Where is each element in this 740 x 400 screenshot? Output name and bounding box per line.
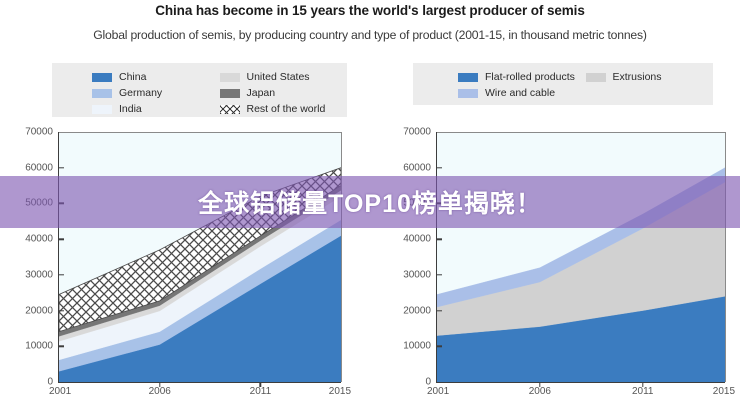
legend-swatch-japan <box>220 89 240 98</box>
y-tick-label: 30000 <box>25 269 53 280</box>
y-tick-mark <box>437 238 442 239</box>
area-chart-svg-by-country <box>59 132 341 382</box>
legend-swatch-united-states <box>220 73 240 82</box>
x-tick-mark <box>642 382 643 387</box>
legend-item-wire-and-cable[interactable]: Wire and cable <box>458 85 586 101</box>
y-tick-mark <box>59 203 64 204</box>
legend-label-china: China <box>119 71 146 83</box>
y-tick-label: 10000 <box>25 341 53 352</box>
chart-by-product: 0100002000030000400005000060000700002001… <box>390 122 740 400</box>
page-subtitle: Global production of semis, by producing… <box>0 28 740 42</box>
x-tick-label: 2011 <box>250 386 272 397</box>
x-tick-mark <box>159 382 160 387</box>
y-tick-mark <box>437 310 442 311</box>
screenshot-root: China has become in 15 years the world's… <box>0 0 740 400</box>
plot-area-by-product: 0100002000030000400005000060000700002001… <box>436 132 725 383</box>
page-title: China has become in 15 years the world's… <box>0 3 740 18</box>
plot-area-by-country: 0100002000030000400005000060000700002001… <box>58 132 341 383</box>
y-tick-label: 50000 <box>403 198 431 209</box>
x-tick-label: 2001 <box>427 386 449 397</box>
legend-label-japan: Japan <box>247 87 276 99</box>
legend-item-rest-of-the-world[interactable]: Rest of the world <box>220 101 348 117</box>
legend-swatch-extrusions <box>586 73 606 82</box>
y-tick-mark <box>437 203 442 204</box>
y-tick-label: 30000 <box>403 269 431 280</box>
x-tick-label: 2001 <box>49 386 71 397</box>
legend-item-germany[interactable]: Germany <box>92 85 220 101</box>
legend-by-country: China United States Germany Japan India … <box>52 63 347 117</box>
y-tick-mark <box>59 274 64 275</box>
x-tick-label: 2011 <box>632 386 654 397</box>
plot-frame-right <box>725 132 726 382</box>
legend-swatch-india <box>92 105 112 114</box>
x-tick-label: 2006 <box>149 386 171 397</box>
legend-label-flat-rolled-products: Flat-rolled products <box>485 71 575 83</box>
x-tick-label: 2015 <box>713 386 735 397</box>
x-tick-label: 2015 <box>329 386 351 397</box>
plot-inner-by-product <box>437 132 725 382</box>
y-tick-label: 60000 <box>403 162 431 173</box>
y-tick-label: 40000 <box>403 234 431 245</box>
legend-label-wire-and-cable: Wire and cable <box>485 87 555 99</box>
x-tick-mark <box>539 382 540 387</box>
legend-swatch-wire-and-cable <box>458 89 478 98</box>
y-tick-mark <box>59 346 64 347</box>
legend-label-united-states: United States <box>247 71 310 83</box>
y-tick-label: 40000 <box>25 234 53 245</box>
legend-item-india[interactable]: India <box>92 101 220 117</box>
y-tick-label: 50000 <box>25 198 53 209</box>
legend-label-extrusions: Extrusions <box>613 71 662 83</box>
plot-frame-right <box>341 132 342 382</box>
legend-label-rest-of-the-world: Rest of the world <box>247 103 326 115</box>
y-tick-mark <box>437 346 442 347</box>
legend-item-japan[interactable]: Japan <box>220 85 348 101</box>
y-tick-label: 70000 <box>403 127 431 138</box>
y-tick-mark <box>59 310 64 311</box>
legend-item-china[interactable]: China <box>92 69 220 85</box>
y-tick-mark <box>437 274 442 275</box>
legend-item-flat-rolled-products[interactable]: Flat-rolled products <box>458 69 586 85</box>
y-tick-label: 10000 <box>403 341 431 352</box>
plot-inner-by-country <box>59 132 341 382</box>
legend-item-extrusions[interactable]: Extrusions <box>586 69 714 85</box>
y-tick-label: 20000 <box>403 305 431 316</box>
legend-item-united-states[interactable]: United States <box>220 69 348 85</box>
x-tick-mark <box>260 382 261 387</box>
legend-swatch-rest-of-the-world <box>220 105 240 114</box>
y-tick-label: 70000 <box>25 127 53 138</box>
legend-by-product: Flat-rolled products Extrusions Wire and… <box>413 63 713 105</box>
legend-swatch-germany <box>92 89 112 98</box>
y-tick-mark <box>437 167 442 168</box>
y-tick-mark <box>59 238 64 239</box>
legend-label-india: India <box>119 103 142 115</box>
y-tick-label: 60000 <box>25 162 53 173</box>
legend-label-germany: Germany <box>119 87 162 99</box>
y-tick-mark <box>59 167 64 168</box>
legend-swatch-china <box>92 73 112 82</box>
legend-swatch-flat-rolled-products <box>458 73 478 82</box>
area-chart-svg-by-product <box>437 132 725 382</box>
x-tick-label: 2006 <box>529 386 551 397</box>
chart-by-country: 0100002000030000400005000060000700002001… <box>12 122 364 400</box>
y-tick-label: 20000 <box>25 305 53 316</box>
